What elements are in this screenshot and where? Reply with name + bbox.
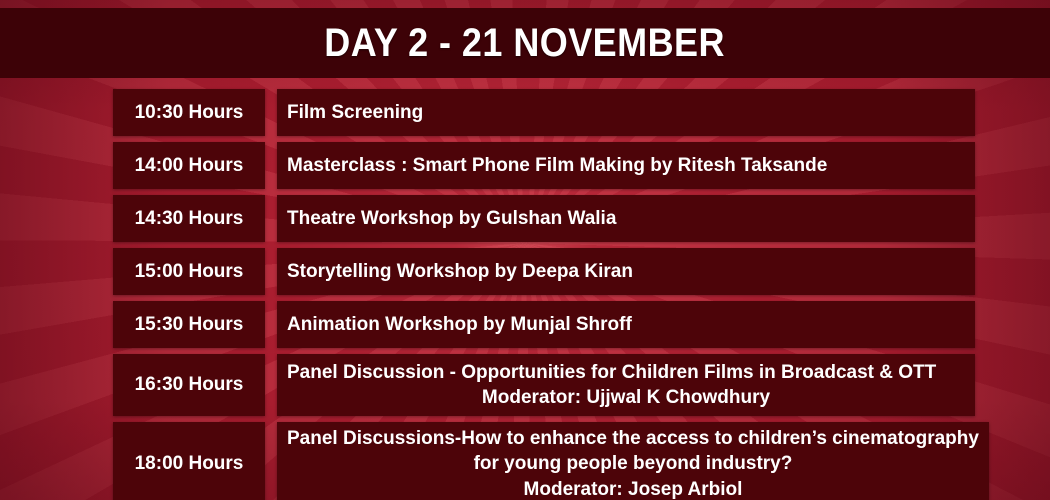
schedule-row: 14:00 HoursMasterclass : Smart Phone Fil… [113,142,975,189]
schedule-row: 18:00 HoursPanel Discussions-How to enha… [113,422,975,500]
session-title-line: Panel Discussions-How to enhance the acc… [287,426,979,451]
schedule-row: 10:30 HoursFilm Screening [113,89,975,136]
session-title-line: Masterclass : Smart Phone Film Making by… [287,153,965,178]
session-time: 16:30 Hours [113,354,265,416]
schedule-row: 15:30 HoursAnimation Workshop by Munjal … [113,301,975,348]
session-title-line: Theatre Workshop by Gulshan Walia [287,206,965,231]
page-title: DAY 2 - 21 NOVEMBER [325,21,726,66]
session-time: 15:00 Hours [113,248,265,295]
schedule-table: 10:30 HoursFilm Screening14:00 HoursMast… [113,89,975,500]
title-band: DAY 2 - 21 NOVEMBER [0,8,1050,78]
session-time: 15:30 Hours [113,301,265,348]
schedule-poster: DAY 2 - 21 NOVEMBER 10:30 HoursFilm Scre… [0,0,1050,500]
session-detail-line: Moderator: Ujjwal K Chowdhury [287,385,965,410]
session-detail-line: Moderator: Josep Arbiol [287,477,979,500]
session-description: Animation Workshop by Munjal Shroff [277,301,975,348]
session-time: 14:00 Hours [113,142,265,189]
session-description: Panel Discussions-How to enhance the acc… [277,422,989,500]
session-time: 18:00 Hours [113,422,265,500]
session-title-line: Panel Discussion - Opportunities for Chi… [287,360,965,385]
session-detail-line: for young people beyond industry? [287,451,979,476]
session-description: Storytelling Workshop by Deepa Kiran [277,248,975,295]
session-title-line: Film Screening [287,100,965,125]
session-time: 14:30 Hours [113,195,265,242]
session-description: Panel Discussion - Opportunities for Chi… [277,354,975,416]
schedule-row: 14:30 HoursTheatre Workshop by Gulshan W… [113,195,975,242]
session-title-line: Animation Workshop by Munjal Shroff [287,312,965,337]
schedule-row: 16:30 HoursPanel Discussion - Opportunit… [113,354,975,416]
session-title-line: Storytelling Workshop by Deepa Kiran [287,259,965,284]
schedule-row: 15:00 HoursStorytelling Workshop by Deep… [113,248,975,295]
session-time: 10:30 Hours [113,89,265,136]
session-description: Masterclass : Smart Phone Film Making by… [277,142,975,189]
session-description: Film Screening [277,89,975,136]
session-description: Theatre Workshop by Gulshan Walia [277,195,975,242]
